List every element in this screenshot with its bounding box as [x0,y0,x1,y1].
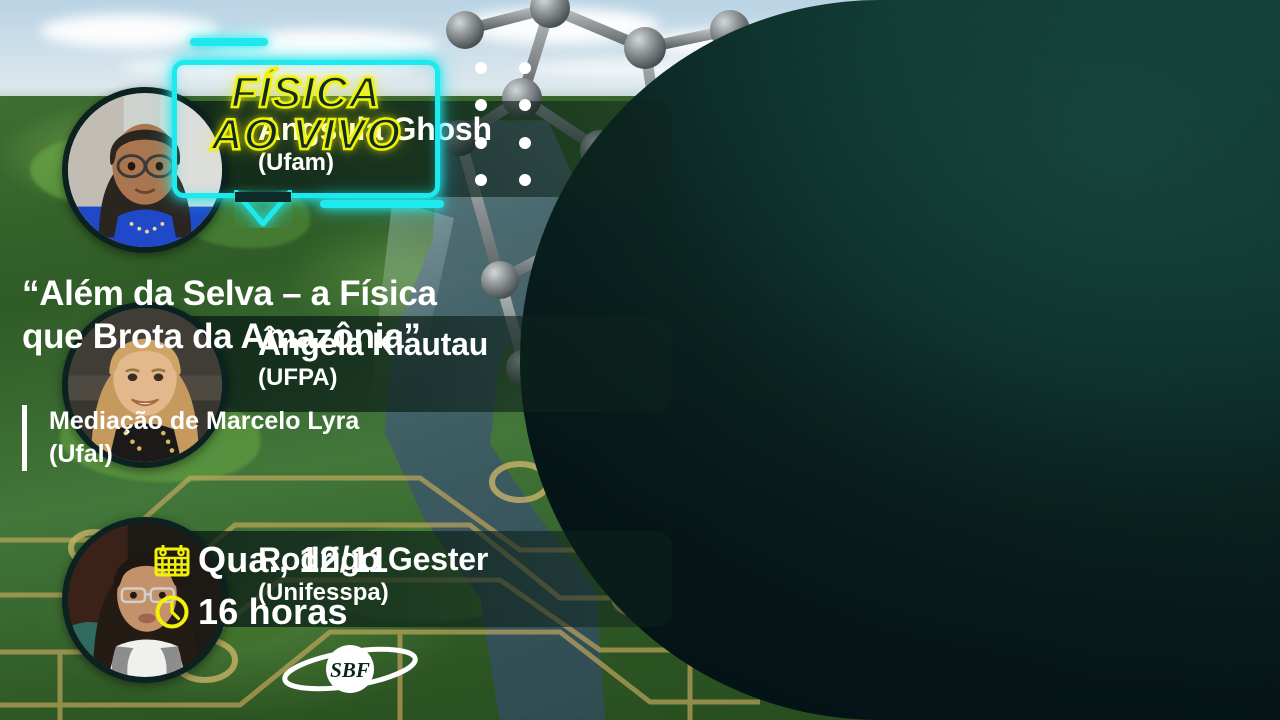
moderator-institution: (Ufal) [49,438,522,471]
event-title: “Além da Selva – a Física que Brota da A… [22,272,542,359]
event-date: Qua., 12/11 [198,539,388,581]
neon-accent-bar-top [190,38,268,46]
dot-grid-decoration [475,62,535,187]
fisica-ao-vivo-logo: FÍSICA AO VIVO [172,38,452,218]
panel-content: FÍSICA AO VIVO “Além da Selva – a Física… [0,0,760,720]
sbf-logo-text: SBF [330,658,370,682]
logo-line-1: FÍSICA [172,72,440,114]
event-title-line-2: que Brota da Amazônia” [22,315,542,358]
neon-accent-bar-bottom [320,200,444,208]
sbf-logo: SBF [280,638,420,700]
neon-tail-mask [235,192,291,202]
calendar-icon [146,542,198,578]
logo-line-2: AO VIVO [172,114,440,156]
moderator-block: Mediação de Marcelo Lyra (Ufal) [22,405,522,471]
schedule-time-row: 16 horas [146,586,388,638]
event-poster: FÍSICA AO VIVO “Além da Selva – a Física… [0,0,1280,720]
schedule-block: Qua., 12/11 16 horas [146,534,388,638]
schedule-date-row: Qua., 12/11 [146,534,388,586]
logo-text: FÍSICA AO VIVO [172,72,440,156]
event-time: 16 horas [198,591,348,633]
clock-icon [146,593,198,631]
moderator-name: Mediação de Marcelo Lyra [49,405,522,438]
event-title-line-1: “Além da Selva – a Física [22,272,542,315]
